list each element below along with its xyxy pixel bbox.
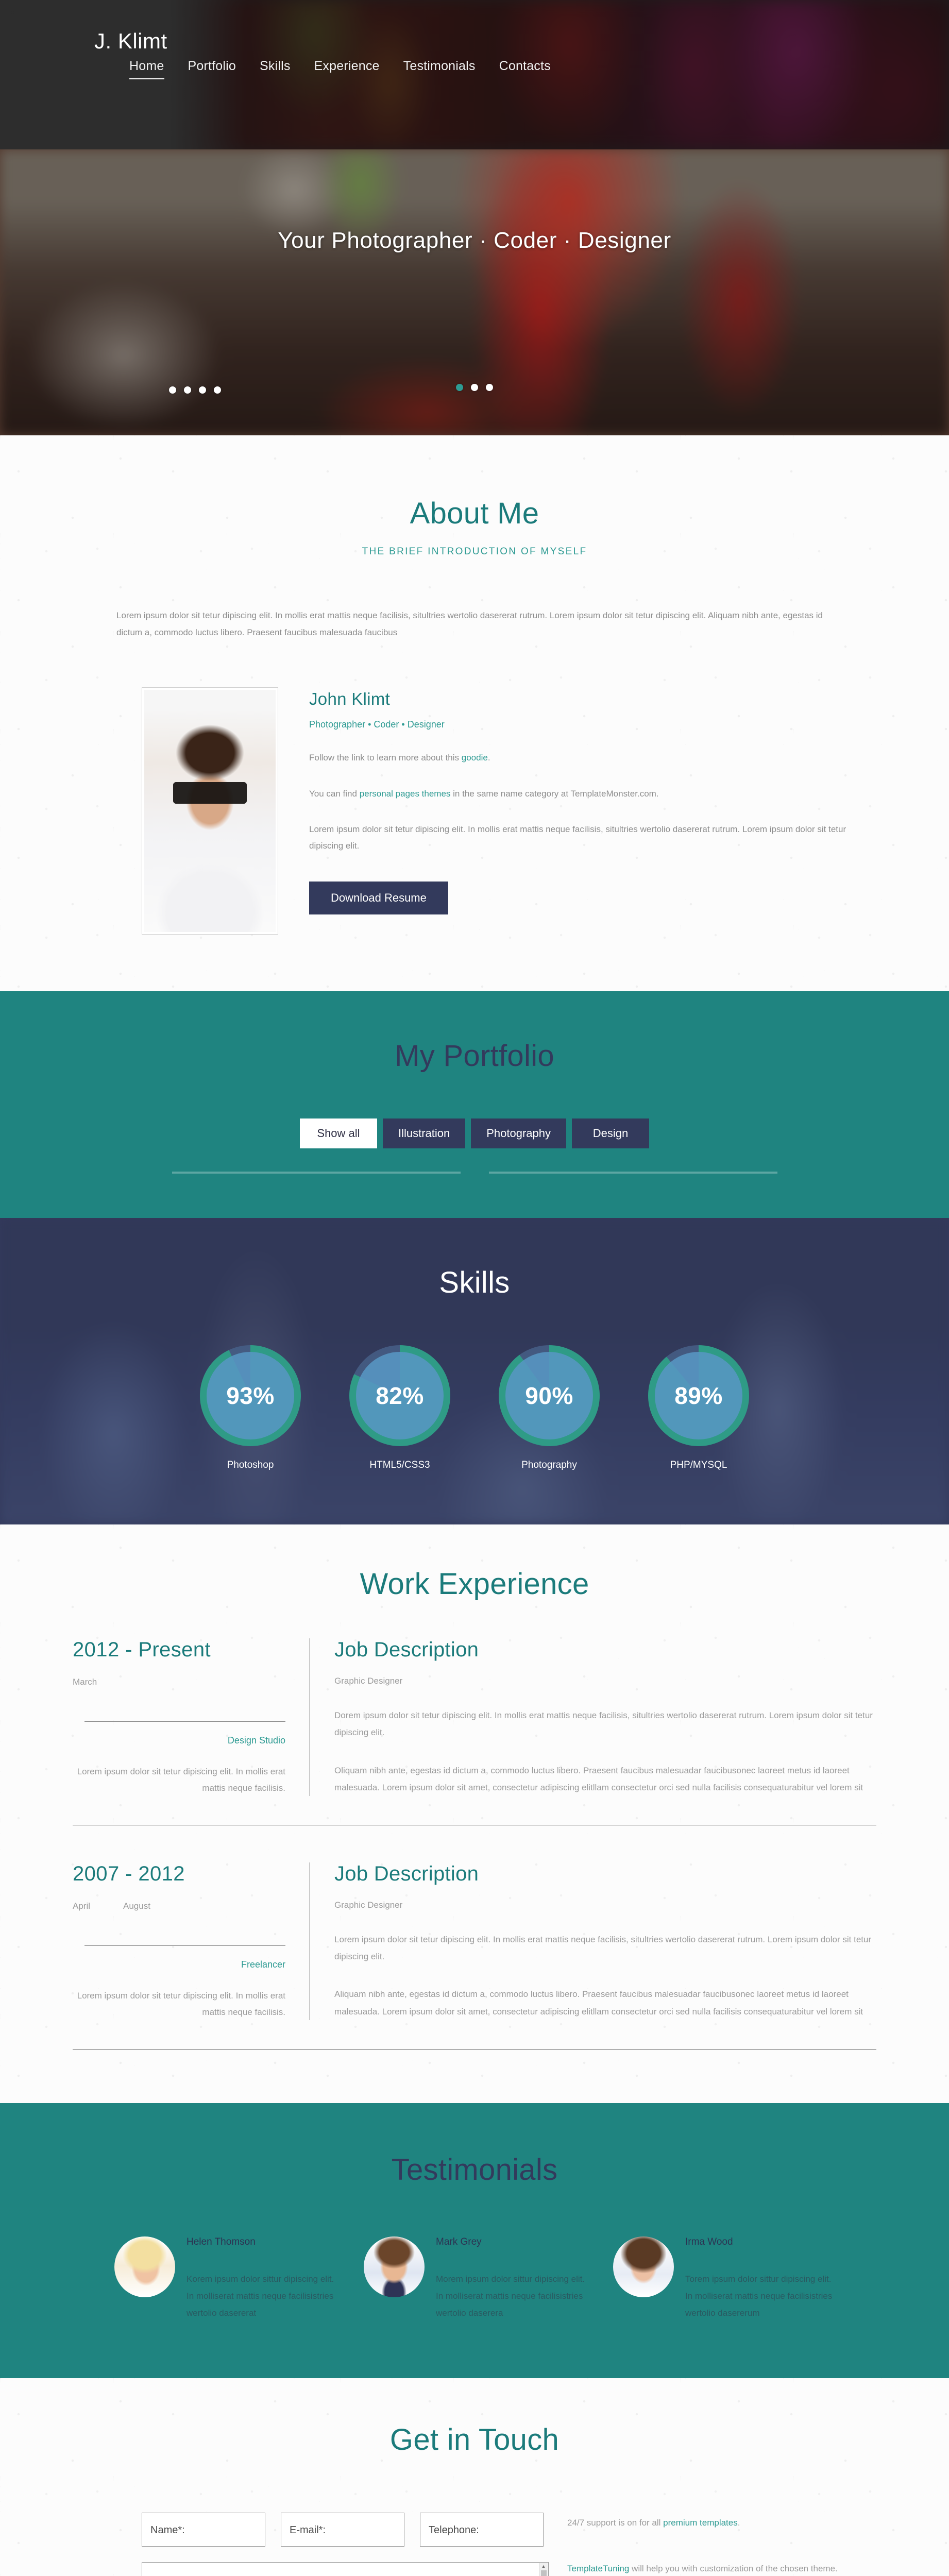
skills-chart-row: 93% Photoshop 82% HTML5/CSS3 90% (73, 1345, 876, 1471)
filter-photography[interactable]: Photography (471, 1118, 566, 1148)
slider-thumb-dot[interactable] (214, 386, 221, 394)
about-paragraph-3: Lorem ipsum dolor sit tetur dipiscing el… (309, 821, 855, 854)
testimonial-author: Mark Grey (436, 2236, 585, 2248)
experience-entry: 2012 - Present March Design Studio Lorem… (73, 1601, 876, 1825)
testimonial-card: Irma Wood Torem ipsum dolor sittur dipis… (613, 2236, 835, 2321)
experience-paragraph-2: Oliquam nibh ante, egestas id dictum a, … (334, 1762, 876, 1796)
skill-donut-chart: 90% (499, 1345, 600, 1446)
avatar (364, 2236, 425, 2297)
portfolio-title: My Portfolio (73, 1039, 876, 1073)
divider (84, 1945, 285, 1946)
about-personal-pages-link[interactable]: personal pages themes (360, 789, 451, 799)
about-p2-pre: You can find (309, 789, 360, 799)
skills-section: Skills 93% Photoshop 82% HTML5/CSS3 (0, 1218, 949, 1524)
testimonial-card: Mark Grey Morem ipsum dolor sittur dipis… (364, 2236, 585, 2321)
help-post: will help you with customization of the … (629, 2564, 837, 2573)
email-field-wrap[interactable]: E-mail*: (281, 2513, 404, 2547)
experience-years: 2012 - Present (73, 1638, 285, 1662)
help-line: TemplateTuning will help you with custom… (567, 2561, 838, 2576)
name-input[interactable] (142, 2513, 265, 2546)
about-paragraph-1: Follow the link to learn more about this… (309, 750, 855, 766)
support-post: . (738, 2518, 740, 2528)
testimonials-title: Testimonials (73, 2153, 876, 2187)
testimonial-author: Irma Wood (685, 2236, 835, 2248)
skill-label: PHP/MYSQL (648, 1460, 749, 1471)
about-portrait-frame (142, 687, 278, 935)
portfolio-grid (73, 1172, 876, 1174)
testimonial-card: Helen Thomson Korem ipsum dolor sittur d… (114, 2236, 336, 2321)
about-section: About Me THE BRIEF INTRODUCTION OF MYSEL… (0, 435, 949, 991)
message-field-wrap[interactable]: Message*: ▲ ▼ (142, 2562, 549, 2576)
skill-value: 89% (674, 1382, 723, 1410)
about-person-name: John Klimt (309, 689, 855, 709)
experience-subheading: Graphic Designer (334, 1676, 876, 1686)
name-field-wrap[interactable]: Name*: (142, 2513, 265, 2547)
experience-months: April August (73, 1901, 285, 1911)
experience-heading: Job Description (334, 1862, 876, 1886)
contact-form: Name*: E-mail*: Telephone: (142, 2513, 549, 2576)
filter-illustration[interactable]: Illustration (383, 1118, 465, 1148)
slider-dot-1[interactable] (456, 384, 463, 391)
experience-entry: 2007 - 2012 April August Freelancer Lore… (73, 1825, 876, 2049)
scroll-up-arrow-icon[interactable]: ▲ (541, 2564, 546, 2569)
nav-item-experience[interactable]: Experience (314, 59, 380, 79)
message-textarea[interactable] (142, 2563, 548, 2576)
contact-title: Get in Touch (73, 2422, 876, 2457)
email-input[interactable] (281, 2513, 404, 2546)
about-subtitle: THE BRIEF INTRODUCTION OF MYSELF (73, 546, 876, 557)
portfolio-filter-group: Show all Illustration Photography Design (73, 1118, 876, 1148)
avatar (114, 2236, 175, 2297)
experience-title: Work Experience (73, 1567, 876, 1601)
skill-donut-chart: 82% (349, 1345, 450, 1446)
slider-thumb-dots (169, 386, 221, 394)
experience-company: Freelancer (73, 1959, 285, 1970)
filter-show-all[interactable]: Show all (300, 1118, 377, 1148)
brand-logo[interactable]: J. Klimt (94, 29, 876, 54)
about-person-role: Photographer • Coder • Designer (309, 719, 855, 730)
experience-years: 2007 - 2012 (73, 1862, 285, 1886)
skill-photography: 90% Photography (499, 1345, 600, 1471)
skill-html5css3: 82% HTML5/CSS3 (349, 1345, 450, 1471)
nav-item-testimonials[interactable]: Testimonials (403, 59, 476, 79)
nav-item-home[interactable]: Home (129, 59, 164, 79)
main-nav: Home Portfolio Skills Experience Testimo… (129, 59, 876, 79)
experience-company: Design Studio (73, 1735, 285, 1746)
skills-title: Skills (73, 1265, 876, 1300)
scrollbar-thumb[interactable] (541, 2570, 547, 2576)
testimonials-row: Helen Thomson Korem ipsum dolor sittur d… (73, 2236, 876, 2321)
hero-overlay (0, 149, 949, 435)
portfolio-section: My Portfolio Show all Illustration Photo… (0, 991, 949, 1218)
skill-value: 93% (226, 1382, 275, 1410)
about-p1-post: . (488, 753, 490, 762)
testimonial-text: Korem ipsum dolor sittur dipiscing elit.… (187, 2270, 336, 2321)
skill-label: HTML5/CSS3 (349, 1460, 450, 1471)
skill-phpmysql: 89% PHP/MYSQL (648, 1345, 749, 1471)
portfolio-item[interactable] (489, 1172, 777, 1174)
slider-dot-3[interactable] (486, 384, 493, 391)
about-lead-paragraph: Lorem ipsum dolor sit tetur dipiscing el… (116, 607, 833, 641)
skill-value: 90% (525, 1382, 573, 1410)
nav-item-contacts[interactable]: Contacts (499, 59, 551, 79)
testimonial-text: Morem ipsum dolor sittur dipiscing elit.… (436, 2270, 585, 2321)
download-resume-button[interactable]: Download Resume (309, 882, 448, 914)
experience-heading: Job Description (334, 1638, 876, 1662)
experience-paragraph-1: Lorem ipsum dolor sit tetur dipiscing el… (334, 1931, 876, 1965)
contact-info: 24/7 support is on for all premium templ… (567, 2513, 838, 2576)
about-title: About Me (73, 496, 876, 531)
nav-item-skills[interactable]: Skills (260, 59, 291, 79)
hero-headline: Your Photographer · Coder · Designer (0, 228, 949, 253)
experience-note: Lorem ipsum dolor sit tetur dipiscing el… (73, 1764, 285, 1796)
testimonial-text: Torem ipsum dolor sittur dipiscing elit.… (685, 2270, 835, 2321)
divider (84, 1721, 285, 1722)
filter-design[interactable]: Design (572, 1118, 649, 1148)
skill-photoshop: 93% Photoshop (200, 1345, 301, 1471)
about-p1-pre: Follow the link to learn more about this (309, 753, 462, 762)
support-line: 24/7 support is on for all premium templ… (567, 2515, 838, 2531)
experience-month: August (123, 1901, 150, 1911)
page-root: J. Klimt Home Portfolio Skills Experienc… (0, 0, 949, 2576)
about-portrait-image (144, 690, 276, 932)
telephone-field-wrap[interactable]: Telephone: (420, 2513, 544, 2547)
templatetuning-link[interactable]: TemplateTuning (567, 2564, 629, 2573)
experience-month: March (73, 1677, 97, 1687)
hero-slider: Your Photographer · Coder · Designer (0, 149, 949, 435)
experience-section: Work Experience 2012 - Present March Des… (0, 1524, 949, 2103)
portfolio-item[interactable] (172, 1172, 461, 1174)
message-scrollbar[interactable]: ▲ ▼ (539, 2563, 548, 2576)
testimonial-author: Helen Thomson (187, 2236, 336, 2248)
slider-thumb-dot[interactable] (169, 386, 176, 394)
telephone-input[interactable] (420, 2513, 543, 2546)
nav-item-portfolio[interactable]: Portfolio (188, 59, 236, 79)
about-p2-post: in the same name category at TemplateMon… (450, 789, 658, 799)
slider-thumb-dot[interactable] (199, 386, 206, 394)
premium-templates-link[interactable]: premium templates (663, 2518, 738, 2528)
slider-dot-2[interactable] (471, 384, 478, 391)
experience-paragraph-2: Aliquam nibh ante, egestas id dictum a, … (334, 1986, 876, 2020)
site-header: J. Klimt Home Portfolio Skills Experienc… (0, 0, 949, 149)
skill-label: Photography (499, 1460, 600, 1471)
support-pre: 24/7 support is on for all (567, 2518, 663, 2528)
skill-donut-chart: 93% (200, 1345, 301, 1446)
skill-donut-chart: 89% (648, 1345, 749, 1446)
experience-note: Lorem ipsum dolor sit tetur dipiscing el… (73, 1988, 285, 2020)
experience-months: March (73, 1677, 285, 1687)
about-paragraph-2: You can find personal pages themes in th… (309, 786, 855, 802)
experience-paragraph-1: Dorem ipsum dolor sit tetur dipiscing el… (334, 1707, 876, 1741)
experience-subheading: Graphic Designer (334, 1900, 876, 1910)
skill-label: Photoshop (200, 1460, 301, 1471)
avatar (613, 2236, 674, 2297)
slider-pagination (456, 384, 493, 391)
about-goodie-link[interactable]: goodie (462, 753, 488, 762)
skill-value: 82% (376, 1382, 424, 1410)
contact-section: Get in Touch Name*: E-mail*: Teleph (0, 2378, 949, 2576)
experience-month: April (73, 1901, 90, 1911)
testimonials-section: Testimonials Helen Thomson Korem ipsum d… (0, 2103, 949, 2378)
slider-thumb-dot[interactable] (184, 386, 191, 394)
